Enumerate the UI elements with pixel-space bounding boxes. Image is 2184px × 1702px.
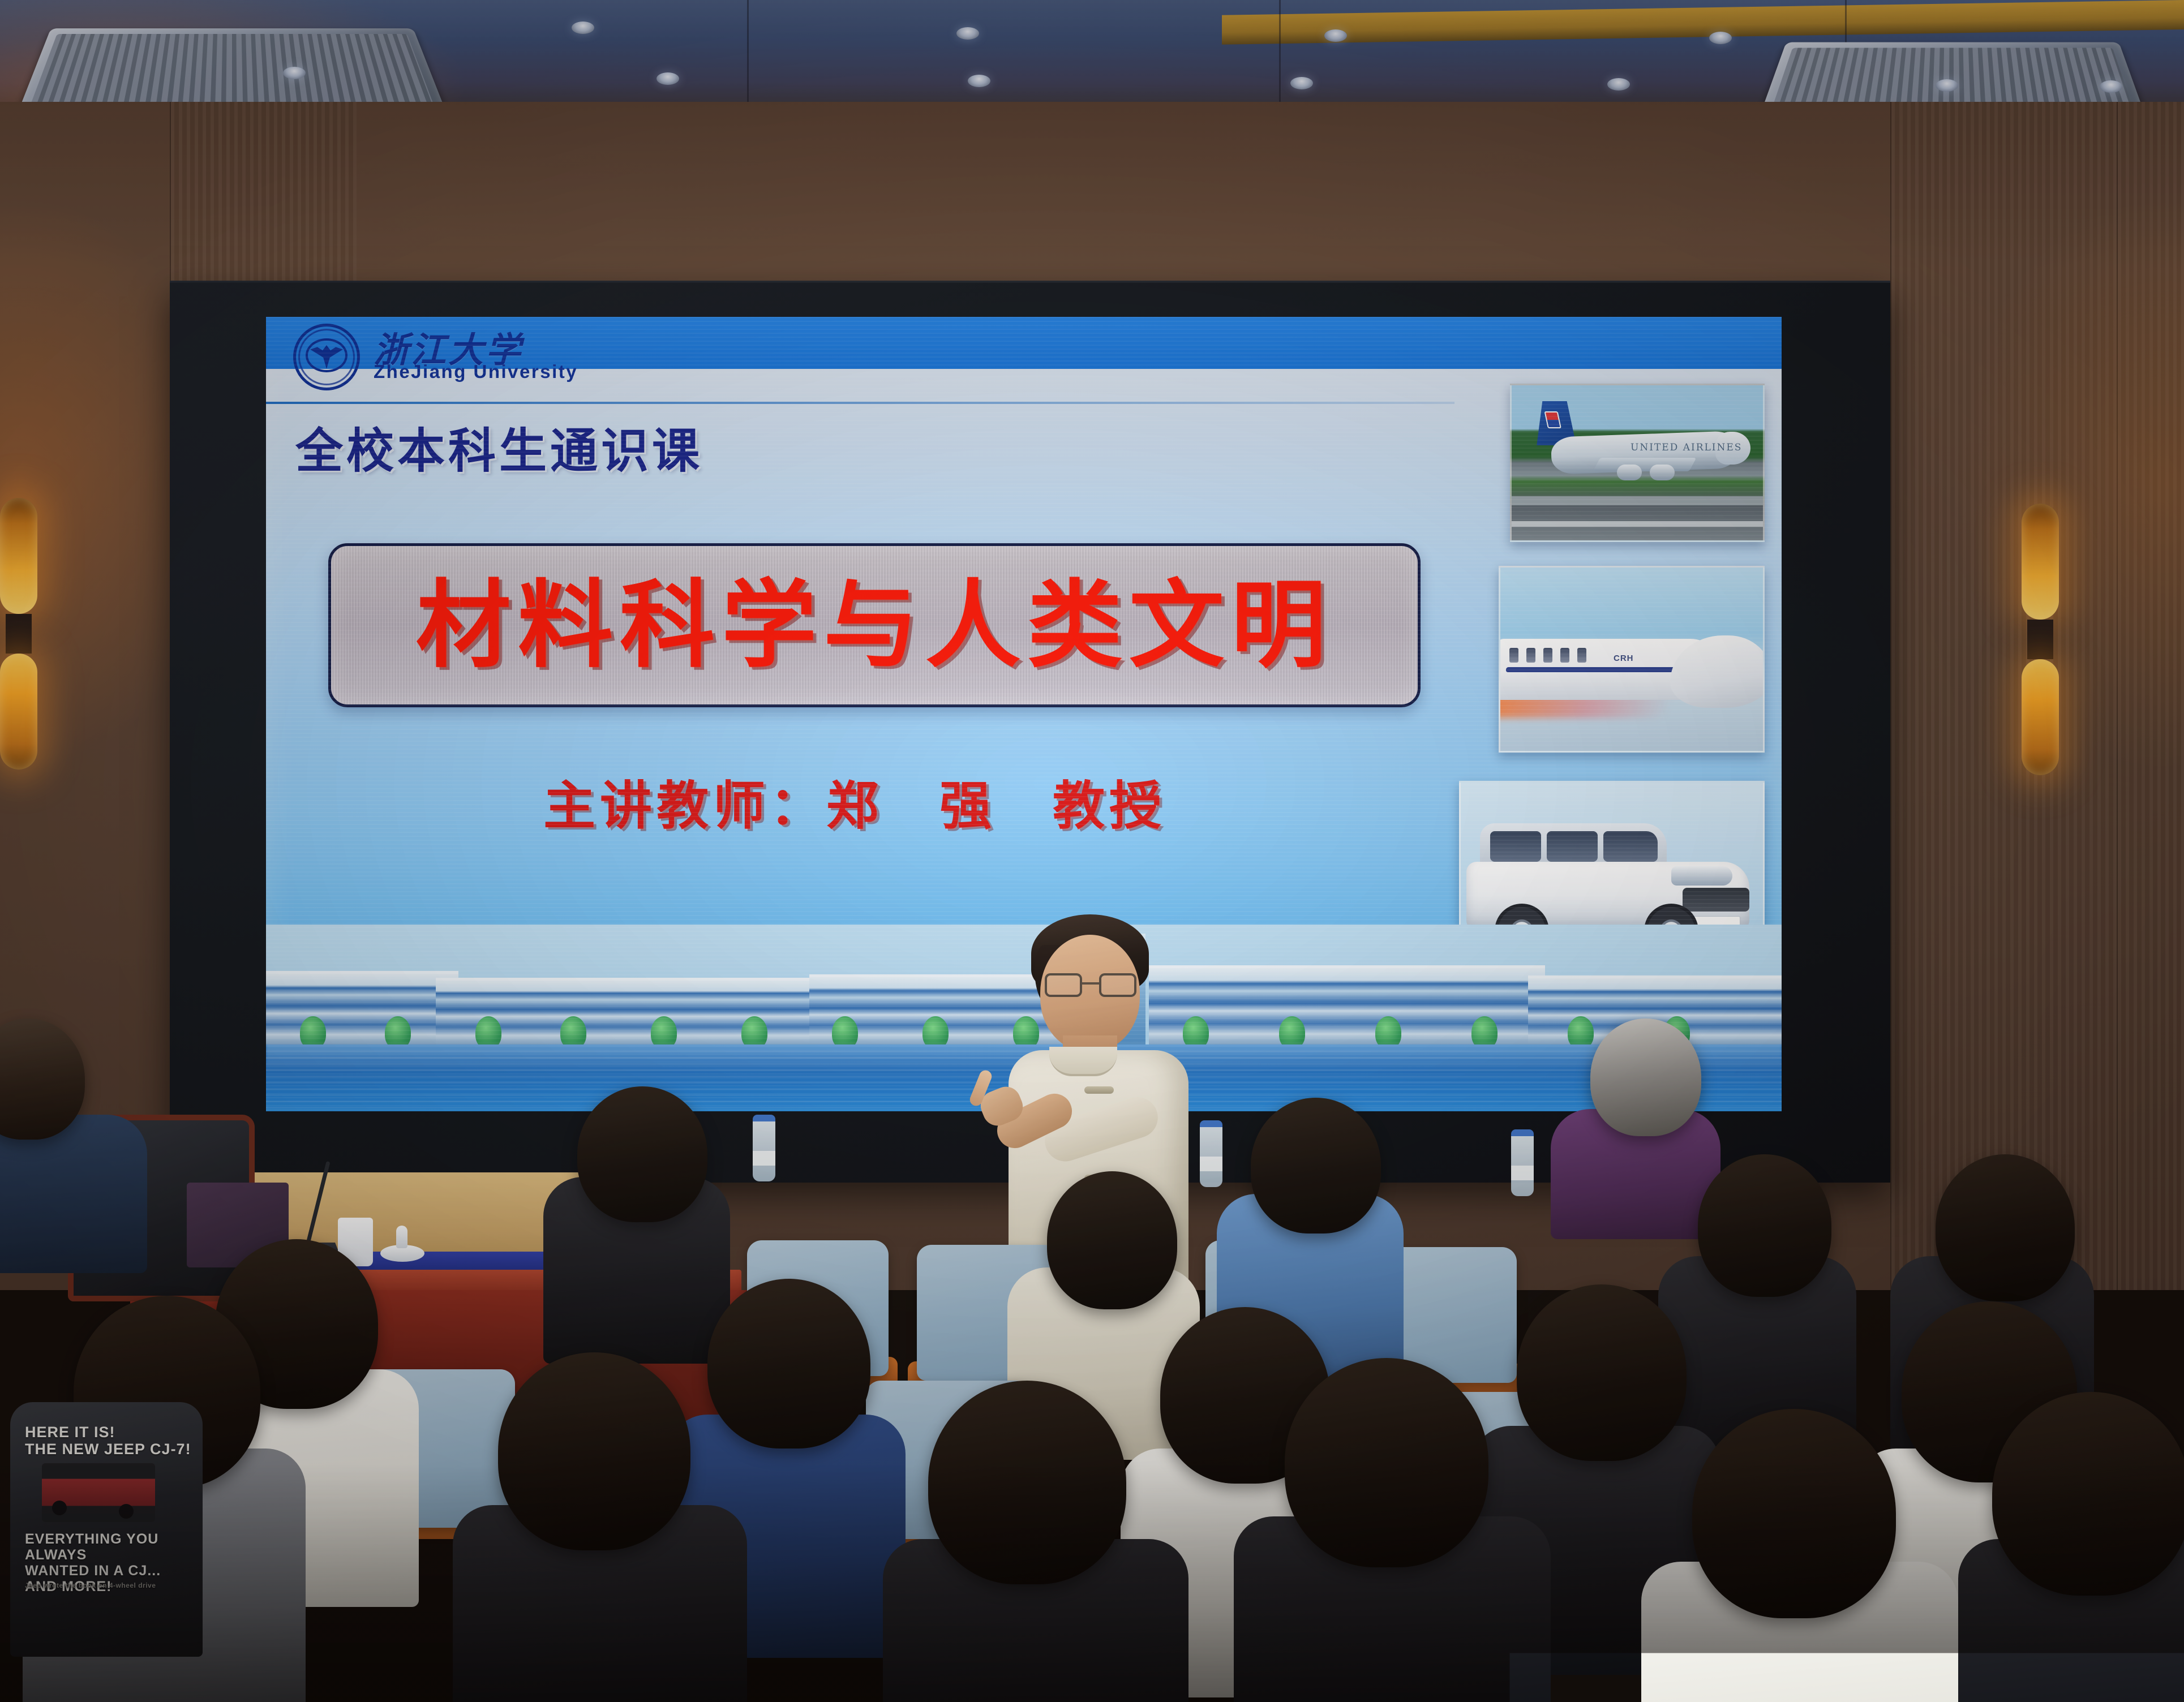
downlight-icon bbox=[283, 67, 306, 79]
wall-sconce-left bbox=[0, 498, 37, 770]
tshirt-line-1: HERE IT IS! bbox=[25, 1424, 191, 1441]
audience-member bbox=[1692, 1409, 1896, 1618]
tshirt-line-2: THE NEW JEEP CJ-7! bbox=[25, 1441, 191, 1458]
audience-member bbox=[1285, 1358, 1488, 1567]
audience-member bbox=[707, 1279, 870, 1449]
airplane-photo: UNITED AIRLINES bbox=[1510, 384, 1765, 542]
audience-member bbox=[1992, 1392, 2184, 1596]
audience bbox=[0, 1052, 2184, 1702]
audience-member bbox=[1590, 1018, 1701, 1136]
jeep-vehicle-graphic bbox=[42, 1463, 155, 1522]
tshirt-line-4: WANTED IN A CJ... bbox=[25, 1563, 203, 1579]
course-title: 材料科学与人类文明 bbox=[416, 578, 1333, 673]
audience-member bbox=[928, 1381, 1126, 1584]
water-bottle bbox=[1511, 1129, 1534, 1196]
water-bottle bbox=[753, 1115, 775, 1181]
airplane-livery-text: UNITED AIRLINES bbox=[1631, 442, 1742, 453]
downlight-icon bbox=[1936, 79, 1958, 92]
presenter-line: 主讲教师：郑 强 教授 bbox=[543, 764, 1166, 839]
audience-member bbox=[1698, 1154, 1831, 1297]
audience-member bbox=[1047, 1171, 1177, 1309]
downlight-icon bbox=[968, 75, 990, 87]
high-speed-train-photo: CRH bbox=[1499, 566, 1765, 753]
header-divider bbox=[266, 402, 1454, 404]
downlight-icon bbox=[1709, 32, 1732, 44]
zhejiang-university-seal-icon bbox=[293, 324, 360, 390]
audience-member bbox=[1251, 1098, 1381, 1233]
course-title-box: 材料科学与人类文明 bbox=[328, 543, 1421, 707]
tshirt-headline: HERE IT IS! THE NEW JEEP CJ-7! bbox=[25, 1424, 191, 1458]
wall-sconce-right bbox=[2022, 504, 2059, 775]
water-bottle bbox=[1200, 1120, 1222, 1187]
audience-member bbox=[1936, 1154, 2075, 1301]
train-livery-text: CRH bbox=[1614, 654, 1634, 663]
downlight-icon bbox=[956, 27, 979, 40]
downlight-icon bbox=[2100, 80, 2122, 93]
downlight-icon bbox=[1290, 77, 1313, 89]
downlight-icon bbox=[1324, 29, 1347, 42]
tshirt-fine-print: Jeep wrote the book on 4-wheel drive bbox=[25, 1582, 156, 1589]
course-category-line: 全校本科生通识课 bbox=[295, 413, 703, 482]
audience-member-jeep-tshirt: HERE IT IS! THE NEW JEEP CJ-7! EVERYTHIN… bbox=[10, 1402, 203, 1657]
audience-member bbox=[577, 1086, 707, 1222]
university-name-en: ZheJiang University bbox=[374, 361, 578, 382]
downlight-icon bbox=[657, 72, 679, 85]
downlight-icon bbox=[1607, 78, 1630, 91]
eyeglasses-icon bbox=[1045, 973, 1136, 997]
tshirt-line-3: EVERYTHING YOU ALWAYS bbox=[25, 1531, 203, 1563]
audience-member bbox=[1517, 1284, 1687, 1461]
audience-member bbox=[498, 1352, 690, 1550]
downlight-icon bbox=[572, 22, 594, 34]
lecture-hall-photo: 浙江大学 ZheJiang University 全校本科生通识课 材料科学与人… bbox=[0, 0, 2184, 1702]
